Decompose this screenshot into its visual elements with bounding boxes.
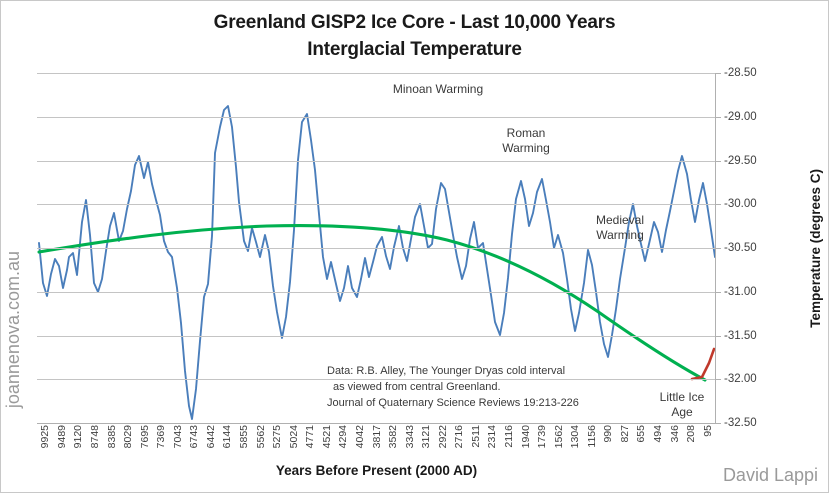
x-tick-label: 2511 bbox=[471, 425, 482, 448]
chart-title-line2: Interglacial Temperature bbox=[1, 36, 828, 63]
x-tick-label: 208 bbox=[686, 425, 697, 443]
x-tick-label: 4521 bbox=[322, 425, 333, 448]
y-tick-mark-5 bbox=[715, 248, 721, 249]
x-tick-label: 3121 bbox=[421, 425, 432, 448]
x-tick-label: 2116 bbox=[504, 425, 515, 448]
annotation-roman-warming-line2: Warming bbox=[471, 141, 581, 156]
x-tick-label: 7695 bbox=[140, 425, 151, 448]
x-tick-label: 5024 bbox=[289, 425, 300, 448]
x-tick-labels: 9925948991208748838580297695736970436743… bbox=[37, 425, 716, 461]
x-tick-label: 990 bbox=[603, 425, 614, 443]
annotation-little-ice-age-line1: Little Ice bbox=[637, 390, 727, 405]
gridline-1 bbox=[37, 73, 715, 74]
x-tick-label: 1304 bbox=[570, 425, 581, 448]
x-tick-label: 6442 bbox=[206, 425, 217, 448]
x-tick-label: 6144 bbox=[222, 425, 233, 448]
y-tick-mark-2 bbox=[715, 117, 721, 118]
chart-title-line1: Greenland GISP2 Ice Core - Last 10,000 Y… bbox=[1, 9, 828, 36]
annotation-medieval-warming-line2: Warming bbox=[565, 228, 675, 243]
author-watermark: David Lappi bbox=[723, 465, 818, 486]
citation-line1: Data: R.B. Alley, The Younger Dryas cold… bbox=[327, 363, 565, 379]
y-tick-mark-6 bbox=[715, 292, 721, 293]
y-tick-label-4: -30.00 bbox=[724, 198, 757, 210]
chart-title: Greenland GISP2 Ice Core - Last 10,000 Y… bbox=[1, 9, 828, 63]
x-tick-label: 655 bbox=[636, 425, 647, 443]
x-tick-label: 8029 bbox=[123, 425, 134, 448]
gridline-5 bbox=[37, 248, 715, 249]
x-axis-title: Years Before Present (2000 AD) bbox=[37, 463, 716, 478]
x-tick-label: 4294 bbox=[338, 425, 349, 448]
y-tick-label-3: -29.50 bbox=[724, 155, 757, 167]
annotation-minoan-warming: Minoan Warming bbox=[343, 82, 533, 97]
x-tick-label: 494 bbox=[653, 425, 664, 443]
gridline-4 bbox=[37, 204, 715, 205]
x-tick-label: 9489 bbox=[57, 425, 68, 448]
y-tick-mark-4 bbox=[715, 204, 721, 205]
x-tick-label: 8385 bbox=[107, 425, 118, 448]
y-tick-label-6: -31.00 bbox=[724, 286, 757, 298]
x-tick-label: 4771 bbox=[305, 425, 316, 448]
y-tick-label-2: -29.00 bbox=[724, 111, 757, 123]
y-tick-mark-7 bbox=[715, 336, 721, 337]
gridline-6 bbox=[37, 292, 715, 293]
y-axis-title: Temperature (degrees C) bbox=[804, 73, 826, 423]
y-tick-mark-3 bbox=[715, 161, 721, 162]
x-tick-label: 9120 bbox=[73, 425, 84, 448]
x-tick-label: 1940 bbox=[521, 425, 532, 448]
site-watermark: joannenova.com.au bbox=[3, 251, 24, 408]
y-tick-mark-9 bbox=[715, 423, 721, 424]
y-tick-label-7: -31.50 bbox=[724, 330, 757, 342]
x-tick-label: 1739 bbox=[537, 425, 548, 448]
x-tick-label: 95 bbox=[703, 425, 714, 437]
x-tick-label: 1562 bbox=[554, 425, 565, 448]
y-tick-mark-8 bbox=[715, 379, 721, 380]
x-tick-label: 7043 bbox=[173, 425, 184, 448]
y-tick-label-1: -28.50 bbox=[724, 67, 757, 79]
y-tick-mark-1 bbox=[715, 73, 721, 74]
annotation-little-ice-age-line2: Age bbox=[637, 405, 727, 420]
x-tick-label: 5855 bbox=[239, 425, 250, 448]
y-tick-label-8: -32.00 bbox=[724, 373, 757, 385]
plot-area: Minoan Warming Roman Warming Medieval Wa… bbox=[37, 73, 715, 423]
gridline-3 bbox=[37, 161, 715, 162]
x-tick-label: 3343 bbox=[405, 425, 416, 448]
annotation-roman-warming-line1: Roman bbox=[471, 126, 581, 141]
x-axis-line bbox=[37, 423, 716, 424]
y-tick-label-5: -30.50 bbox=[724, 242, 757, 254]
y-axis-title-text: Temperature (degrees C) bbox=[808, 169, 823, 328]
x-tick-label: 8748 bbox=[90, 425, 101, 448]
x-tick-label: 4042 bbox=[355, 425, 366, 448]
citation-line3: Journal of Quaternary Science Reviews 19… bbox=[327, 395, 579, 411]
x-tick-label: 5275 bbox=[272, 425, 283, 448]
chart-frame: Greenland GISP2 Ice Core - Last 10,000 Y… bbox=[0, 0, 829, 493]
x-tick-label: 827 bbox=[620, 425, 631, 443]
x-tick-label: 7369 bbox=[156, 425, 167, 448]
citation-line2: as viewed from central Greenland. bbox=[333, 379, 501, 395]
x-tick-label: 3582 bbox=[388, 425, 399, 448]
x-tick-label: 346 bbox=[670, 425, 681, 443]
x-tick-label: 6743 bbox=[189, 425, 200, 448]
gridline-7 bbox=[37, 336, 715, 337]
x-tick-label: 5562 bbox=[256, 425, 267, 448]
annotation-medieval-warming-line1: Medieval bbox=[565, 213, 675, 228]
x-tick-label: 2716 bbox=[454, 425, 465, 448]
x-tick-label: 2314 bbox=[487, 425, 498, 448]
y-tick-label-9: -32.50 bbox=[724, 417, 757, 429]
gridline-2 bbox=[37, 117, 715, 118]
x-tick-label: 1156 bbox=[587, 425, 598, 448]
x-tick-label: 2922 bbox=[438, 425, 449, 448]
x-tick-label: 9925 bbox=[40, 425, 51, 448]
x-tick-label: 3817 bbox=[372, 425, 383, 448]
